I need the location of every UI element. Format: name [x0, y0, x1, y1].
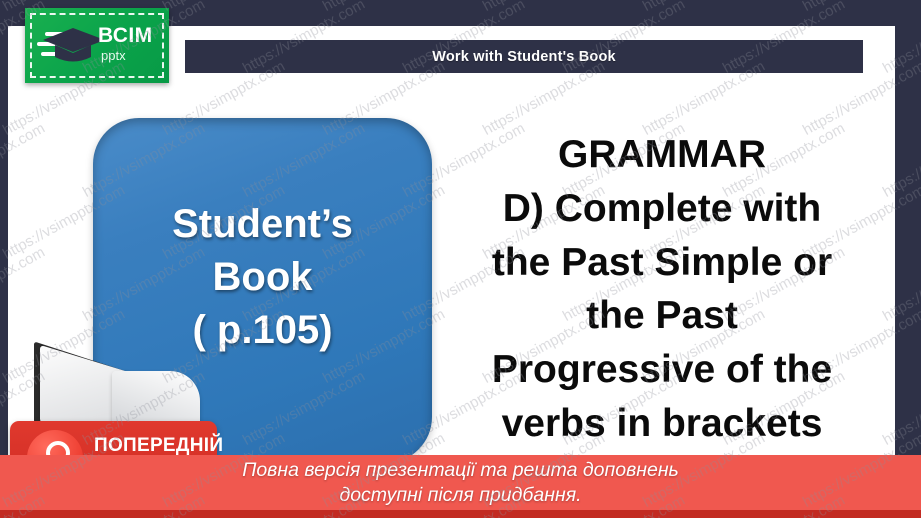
banner-base-strip — [0, 510, 921, 518]
purchase-notice-line-2: доступні після придбання. — [339, 483, 581, 508]
grammar-line-3: the Past Simple or — [452, 236, 872, 290]
card-line-2: Book — [93, 251, 432, 304]
grammar-line-4: the Past — [452, 289, 872, 343]
grammar-line-1: GRAMMAR — [452, 128, 872, 182]
card-line-1: Student’s — [93, 198, 432, 251]
grammar-line-5: Progressive of the — [452, 343, 872, 397]
card-line-3: ( p.105) — [93, 304, 432, 357]
purchase-notice-line-1: Повна версія презентації та решта доповн… — [242, 458, 679, 483]
logo-brand-text: ВСІМ — [98, 25, 152, 46]
right-navy-border — [895, 0, 921, 518]
preview-badge-line-1: ПОПЕРЕДНІЙ — [94, 434, 210, 457]
students-book-card-text: Student’s Book ( p.105) — [93, 198, 432, 356]
vsimpptx-logo[interactable]: ВСІМ pptx — [25, 8, 169, 83]
header-right-white-block — [863, 40, 895, 73]
presentation-slide: Work with Student's Book ВСІМ pptx Stude… — [0, 0, 921, 518]
grammar-task-text: GRAMMAR D) Complete with the Past Simple… — [452, 128, 872, 451]
header-title-text: Work with Student's Book — [185, 40, 863, 73]
left-navy-border — [0, 0, 8, 518]
grammar-line-2: D) Complete with — [452, 182, 872, 236]
logo-brand-sub-text: pptx — [101, 49, 126, 62]
speed-lines-icon — [37, 32, 79, 60]
purchase-notice-banner: Повна версія презентації та решта доповн… — [0, 455, 921, 518]
graduation-cap-icon — [43, 26, 107, 66]
purchase-notice-text: Повна версія презентації та решта доповн… — [0, 455, 921, 510]
grammar-line-6: verbs in brackets — [452, 397, 872, 451]
